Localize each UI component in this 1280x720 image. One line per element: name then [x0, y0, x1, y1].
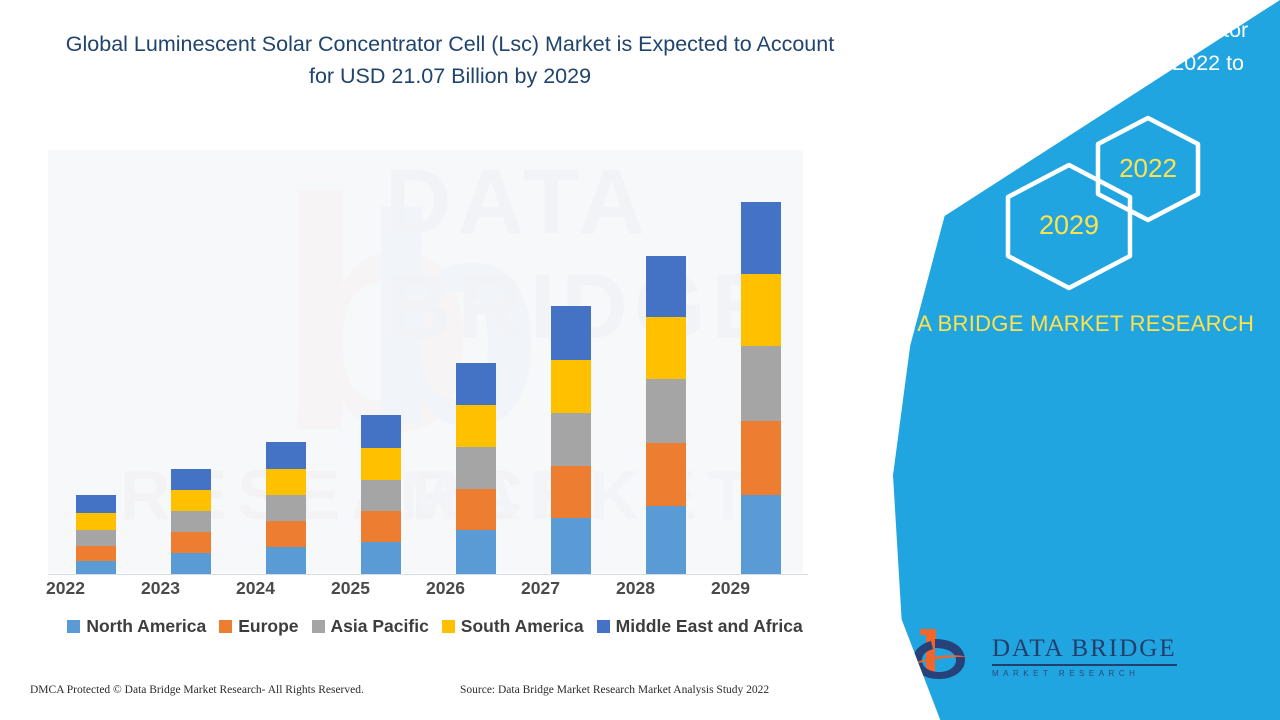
- x-axis-label: 2024: [208, 578, 303, 599]
- legend-swatch-icon: [67, 620, 80, 633]
- logo-subtitle: MARKET RESEARCH: [992, 669, 1177, 678]
- bar-segment[interactable]: [456, 405, 496, 447]
- bar-segment[interactable]: [646, 256, 686, 317]
- bar-segment[interactable]: [266, 469, 306, 495]
- source-note: Source: Data Bridge Market Research Mark…: [460, 684, 769, 696]
- bar-segment[interactable]: [551, 360, 591, 413]
- legend-label: Europe: [238, 616, 298, 637]
- hexagon-2029-label: 2029: [998, 210, 1140, 241]
- bar-segment[interactable]: [171, 490, 211, 511]
- chart-legend: North AmericaEuropeAsia PacificSouth Ame…: [40, 616, 830, 637]
- stacked-bar[interactable]: [76, 495, 116, 574]
- x-axis-label: 2029: [683, 578, 778, 599]
- bar-segment[interactable]: [456, 447, 496, 489]
- bar-segment[interactable]: [646, 379, 686, 443]
- chart-panel: b b DATA BRIDGE RESEARCH MARKET Global L…: [0, 0, 900, 720]
- bar-segment[interactable]: [266, 442, 306, 469]
- legend-label: Middle East and Africa: [616, 616, 803, 637]
- bar-slot: [618, 152, 713, 574]
- stacked-bar[interactable]: [741, 202, 781, 574]
- legend-label: South America: [461, 616, 584, 637]
- branding-panel: Global Luminescent Solar Concentrator Ce…: [850, 0, 1280, 720]
- bar-segment[interactable]: [361, 480, 401, 511]
- x-axis-label: 2027: [493, 578, 588, 599]
- bar-segment[interactable]: [76, 530, 116, 546]
- legend-item[interactable]: South America: [442, 616, 584, 637]
- bar-segment[interactable]: [646, 506, 686, 574]
- bar-segment[interactable]: [741, 495, 781, 574]
- bar-segment[interactable]: [76, 495, 116, 513]
- legend-swatch-icon: [597, 620, 610, 633]
- page-title: Global Luminescent Solar Concentrator Ce…: [55, 28, 845, 92]
- bar-segment[interactable]: [456, 363, 496, 405]
- bar-segment[interactable]: [551, 306, 591, 360]
- x-axis-label: 2025: [303, 578, 398, 599]
- bar-slot: [333, 152, 428, 574]
- bar-slot: [523, 152, 618, 574]
- bar-segment[interactable]: [76, 561, 116, 574]
- x-axis-labels: 20222023202420252026202720282029: [18, 578, 778, 599]
- bar-segment[interactable]: [646, 317, 686, 379]
- plot-area: [30, 150, 820, 575]
- bar-segment[interactable]: [171, 553, 211, 574]
- bar-segment[interactable]: [76, 546, 116, 561]
- legend-swatch-icon: [312, 620, 325, 633]
- stacked-bar[interactable]: [361, 415, 401, 574]
- bar-segment[interactable]: [76, 513, 116, 530]
- stacked-bar[interactable]: [646, 256, 686, 574]
- bar-segment[interactable]: [361, 415, 401, 448]
- infographic-root: b b DATA BRIDGE RESEARCH MARKET Global L…: [0, 0, 1280, 720]
- bar-segment[interactable]: [741, 421, 781, 495]
- stacked-bar[interactable]: [456, 363, 496, 574]
- legend-item[interactable]: Asia Pacific: [312, 616, 429, 637]
- logo-mark-icon: [910, 625, 982, 689]
- stacked-bar[interactable]: [551, 306, 591, 574]
- bar-segment[interactable]: [456, 530, 496, 574]
- bar-segment[interactable]: [171, 532, 211, 553]
- legend-item[interactable]: North America: [67, 616, 206, 637]
- stacked-bar[interactable]: [171, 469, 211, 574]
- x-axis-label: 2026: [398, 578, 493, 599]
- legend-swatch-icon: [219, 620, 232, 633]
- bar-slot: [238, 152, 333, 574]
- x-axis-label: 2028: [588, 578, 683, 599]
- bar-segment[interactable]: [741, 274, 781, 346]
- x-axis-label: 2022: [18, 578, 113, 599]
- logo-text: DATA BRIDGE MARKET RESEARCH: [992, 636, 1177, 678]
- bar-group: [48, 152, 808, 574]
- bar-segment[interactable]: [266, 547, 306, 574]
- bar-segment[interactable]: [171, 469, 211, 490]
- bar-segment[interactable]: [741, 202, 781, 274]
- bar-segment[interactable]: [361, 511, 401, 542]
- x-axis-line: [48, 574, 808, 575]
- bar-slot: [713, 152, 808, 574]
- bar-slot: [143, 152, 238, 574]
- bar-segment[interactable]: [551, 518, 591, 574]
- bar-segment[interactable]: [551, 413, 591, 466]
- legend-label: Asia Pacific: [331, 616, 429, 637]
- brand-name: DATA BRIDGE MARKET RESEARCH: [850, 308, 1280, 340]
- company-logo: DATA BRIDGE MARKET RESEARCH: [910, 625, 1177, 689]
- hexagon-2029: 2029: [998, 160, 1140, 293]
- hexagon-group: 2022 2029: [850, 105, 1280, 280]
- bar-segment[interactable]: [741, 346, 781, 421]
- legend-item[interactable]: Europe: [219, 616, 298, 637]
- bar-segment[interactable]: [171, 511, 211, 532]
- bar-slot: [428, 152, 523, 574]
- bar-segment[interactable]: [456, 489, 496, 530]
- stacked-bar[interactable]: [266, 442, 306, 574]
- bar-segment[interactable]: [266, 495, 306, 521]
- bar-segment[interactable]: [361, 448, 401, 480]
- logo-title: DATA BRIDGE: [992, 636, 1177, 666]
- copyright-notice: DMCA Protected © Data Bridge Market Rese…: [30, 684, 364, 696]
- bar-slot: [48, 152, 143, 574]
- bar-segment[interactable]: [646, 443, 686, 506]
- stacked-bar-chart: [30, 150, 820, 575]
- legend-swatch-icon: [442, 620, 455, 633]
- bar-segment[interactable]: [266, 521, 306, 547]
- panel-title: Global Luminescent Solar Concentrator Ce…: [860, 14, 1260, 113]
- legend-item[interactable]: Middle East and Africa: [597, 616, 803, 637]
- bar-segment[interactable]: [551, 466, 591, 518]
- bar-segment[interactable]: [361, 542, 401, 574]
- legend-label: North America: [86, 616, 206, 637]
- x-axis-label: 2023: [113, 578, 208, 599]
